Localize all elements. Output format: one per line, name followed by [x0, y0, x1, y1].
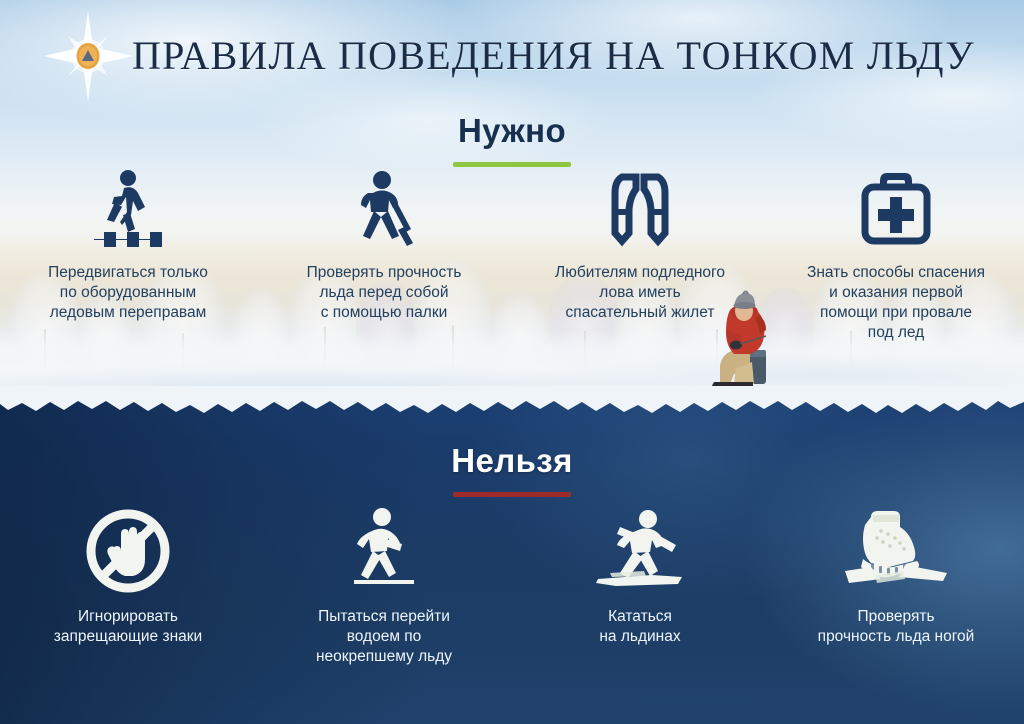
dont-item-2: Пытаться перейти водоем по неокрепшему л… [256, 505, 512, 667]
icon-box [841, 505, 951, 597]
person-with-stick-icon [340, 169, 428, 251]
icon-box [852, 165, 940, 251]
icon-box [340, 165, 428, 251]
do-item-1: Передвигаться только по оборудованным ле… [0, 165, 256, 344]
person-walking-on-ice-crossing-icon [84, 169, 172, 251]
icon-box [82, 505, 174, 597]
poster-canvas: ПРАВИЛА ПОВЕДЕНИЯ НА ТОНКОМ ЛЬДУ Нужно [0, 0, 1024, 724]
dont-item-3-caption: Кататься на льдинах [599, 607, 680, 647]
person-walking-thin-ice-icon [338, 505, 430, 597]
do-item-3-caption: Любителям подледного лова иметь спасател… [555, 263, 725, 323]
ice-edge [0, 386, 1024, 420]
icon-box [338, 505, 430, 597]
section-heading-dont-label: Нельзя [451, 442, 573, 484]
icon-box [590, 505, 690, 597]
icon-box [596, 165, 684, 251]
dont-item-1: Игнорировать запрещающие знаки [0, 505, 256, 667]
do-items-row: Передвигаться только по оборудованным ле… [0, 165, 1024, 344]
emercom-star-emblem [42, 10, 134, 102]
first-aid-kit-icon [852, 169, 940, 251]
do-item-2: Проверять прочность льда перед собой с п… [256, 165, 512, 344]
dont-item-3: Кататься на льдинах [512, 505, 768, 667]
section-rule-dont [453, 492, 571, 497]
section-heading-do-label: Нужно [458, 112, 566, 154]
person-riding-ice-floe-icon [590, 505, 690, 597]
icon-box [84, 165, 172, 251]
dont-item-4: Проверять прочность льда ногой [768, 505, 1024, 667]
do-item-2-caption: Проверять прочность льда перед собой с п… [307, 263, 462, 323]
dont-item-4-caption: Проверять прочность льда ногой [818, 607, 975, 647]
dont-item-1-caption: Игнорировать запрещающие знаки [54, 607, 202, 647]
section-heading-do: Нужно [0, 112, 1024, 172]
do-item-4: Знать способы спасения и оказания первой… [768, 165, 1024, 344]
dont-item-2-caption: Пытаться перейти водоем по неокрепшему л… [316, 607, 452, 667]
life-vest-icon [596, 169, 684, 251]
do-item-3: Любителям подледного лова иметь спасател… [512, 165, 768, 344]
do-item-1-caption: Передвигаться только по оборудованным ле… [48, 263, 208, 323]
boot-breaking-ice-icon [841, 505, 951, 597]
page-title: ПРАВИЛА ПОВЕДЕНИЯ НА ТОНКОМ ЛЬДУ [132, 32, 975, 79]
title-bar: ПРАВИЛА ПОВЕДЕНИЯ НА ТОНКОМ ЛЬДУ [0, 22, 1024, 88]
section-heading-dont: Нельзя [0, 442, 1024, 502]
dont-items-row: Игнорировать запрещающие знаки [0, 505, 1024, 667]
no-entry-hand-icon [82, 505, 174, 597]
do-item-4-caption: Знать способы спасения и оказания первой… [807, 263, 985, 344]
